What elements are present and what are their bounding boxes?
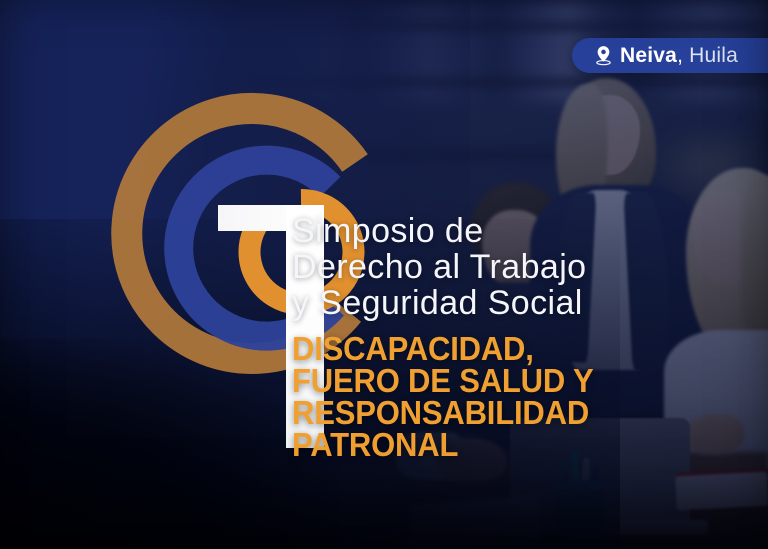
event-subtitle: Simposio de Derecho al Trabajo y Segurid… [292, 213, 712, 321]
event-promo-banner: Simposio de Derecho al Trabajo y Segurid… [0, 0, 768, 549]
headline-line-2: FUERO DE SALUD Y [292, 365, 687, 397]
subtitle-line-3: y Seguridad Social [292, 285, 712, 321]
subtitle-line-2: Derecho al Trabajo [292, 249, 712, 285]
headline-line-4: PATRONAL [292, 429, 687, 461]
location-pin-icon [594, 45, 613, 66]
location-city: Neiva [620, 44, 677, 67]
headline-line-3: RESPONSABILIDAD [292, 397, 687, 429]
subtitle-line-1: Simposio de [292, 213, 712, 249]
location-badge: Neiva, Huila [572, 38, 768, 73]
event-headline: DISCAPACIDAD, FUERO DE SALUD Y RESPONSAB… [292, 333, 687, 461]
headline-line-1: DISCAPACIDAD, [292, 333, 687, 365]
location-badge-text: Neiva, Huila [620, 45, 738, 66]
location-department: Huila [683, 44, 738, 67]
event-text-block: Simposio de Derecho al Trabajo y Segurid… [292, 213, 712, 461]
